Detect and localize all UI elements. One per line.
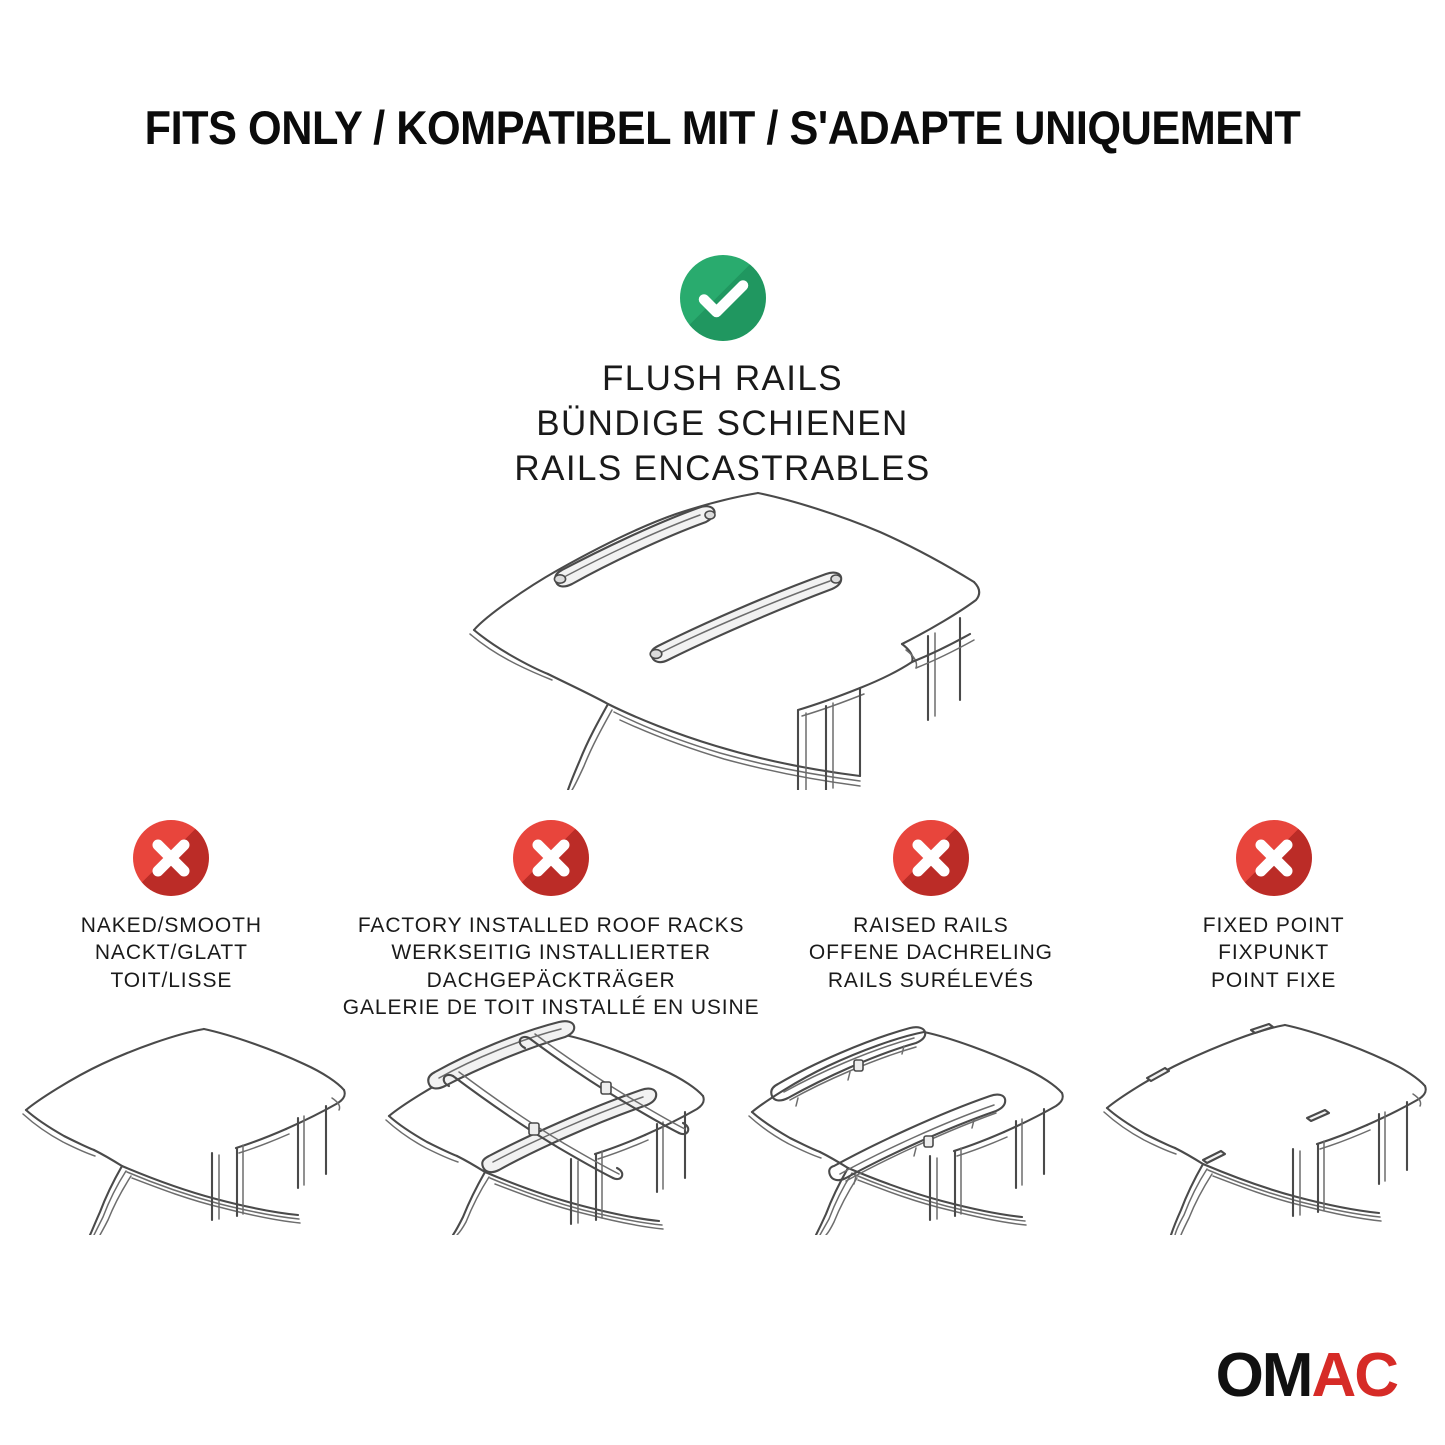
- label-line: POINT FIXE: [1203, 967, 1345, 994]
- car-roof-fixed-point-illustration: [1084, 1020, 1445, 1235]
- label-line: NAKED/SMOOTH: [81, 912, 262, 939]
- x-circle-icon: [133, 820, 209, 896]
- label-line: DACHGEPÄCKTRÄGER: [343, 967, 760, 994]
- label-line: FIXED POINT: [1203, 912, 1345, 939]
- omac-logo: OM AC: [1216, 1345, 1397, 1407]
- car-roof-naked-illustration: [0, 1020, 361, 1235]
- incompatible-labels-2: FACTORY INSTALLED ROOF RACKS WERKSEITIG …: [343, 912, 760, 1021]
- x-circle-icon: [513, 820, 589, 896]
- incompatible-badge-wrap-2: [513, 820, 589, 896]
- incompatible-labels-1: NAKED/SMOOTH NACKT/GLATT TOIT/LISSE: [81, 912, 262, 1020]
- incompatible-badge-wrap-3: [893, 820, 969, 896]
- logo-text-ac: AC: [1311, 1345, 1397, 1407]
- label-line: OFFENE DACHRELING: [809, 939, 1053, 966]
- incompatible-section: NAKED/SMOOTH NACKT/GLATT TOIT/LISSE FACT…: [0, 820, 1445, 1021]
- label-line: FIXPUNKT: [1203, 939, 1345, 966]
- compatible-badge-wrap: [680, 255, 766, 341]
- incompatible-badge-wrap-4: [1236, 820, 1312, 896]
- incompatible-badge-wrap-1: [133, 820, 209, 896]
- label-line: RAILS SURÉLEVÉS: [809, 967, 1053, 994]
- label-line: WERKSEITIG INSTALLIERTER: [343, 939, 760, 966]
- incompatible-column-raised-rails: RAISED RAILS OFFENE DACHRELING RAILS SUR…: [760, 820, 1103, 1020]
- x-circle-icon: [1236, 820, 1312, 896]
- compatible-section: FLUSH RAILS BÜNDIGE SCHIENEN RAILS ENCAS…: [0, 255, 1445, 491]
- check-circle-icon: [680, 255, 766, 341]
- car-roof-flush-rails-illustration: [440, 470, 1020, 790]
- car-roof-factory-racks-illustration: [361, 1020, 722, 1235]
- label-line: RAISED RAILS: [809, 912, 1053, 939]
- incompatible-column-naked: NAKED/SMOOTH NACKT/GLATT TOIT/LISSE: [0, 820, 343, 1020]
- incompatible-column-fixed-point: FIXED POINT FIXPUNKT POINT FIXE: [1102, 820, 1445, 1020]
- label-line: GALERIE DE TOIT INSTALLÉ EN USINE: [343, 994, 760, 1021]
- label-line: NACKT/GLATT: [81, 939, 262, 966]
- x-circle-icon: [893, 820, 969, 896]
- label-line: FACTORY INSTALLED ROOF RACKS: [343, 912, 760, 939]
- logo-text-om: OM: [1216, 1345, 1312, 1407]
- label-line: TOIT/LISSE: [81, 967, 262, 994]
- compatible-label-de: BÜNDIGE SCHIENEN: [514, 402, 930, 447]
- incompatible-column-factory-racks: FACTORY INSTALLED ROOF RACKS WERKSEITIG …: [343, 820, 760, 1021]
- car-roof-raised-rails-illustration: [723, 1020, 1084, 1235]
- roof-illustrations-row: [0, 1020, 1445, 1235]
- compatible-label-en: FLUSH RAILS: [514, 357, 930, 402]
- page-title: FITS ONLY / KOMPATIBEL MIT / S'ADAPTE UN…: [58, 104, 1387, 151]
- incompatible-labels-3: RAISED RAILS OFFENE DACHRELING RAILS SUR…: [809, 912, 1053, 1020]
- incompatible-labels-4: FIXED POINT FIXPUNKT POINT FIXE: [1203, 912, 1345, 1020]
